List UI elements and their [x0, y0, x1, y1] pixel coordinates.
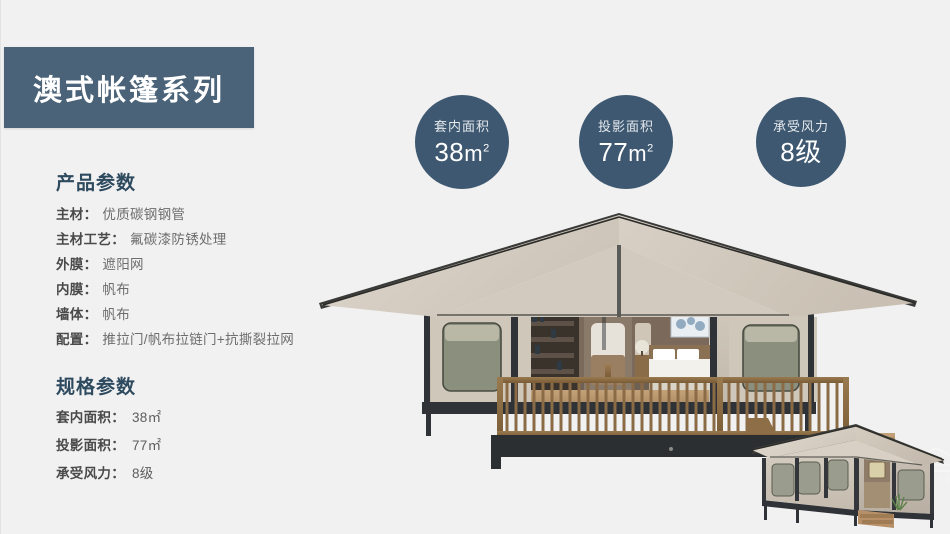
stat-label: 套内面积: [434, 120, 490, 133]
param-value: 8级: [132, 462, 154, 482]
spec-params-list: 套内面积： 38㎡ 投影面积： 77㎡ 承受风力： 8级: [56, 406, 161, 490]
param-row: 投影面积： 77㎡: [56, 434, 161, 462]
tent-small-svg: [746, 418, 950, 534]
param-label: 配置：: [56, 328, 97, 348]
param-row: 墙体： 帆布: [56, 303, 294, 328]
param-value: 遮阳网: [102, 253, 143, 273]
param-label: 墙体：: [56, 303, 97, 323]
stat-circle-wind-resistance: 承受风力 8级: [756, 97, 846, 187]
param-value: 氟碳漆防锈处理: [130, 228, 227, 248]
spec-params-heading: 规格参数: [56, 372, 136, 399]
param-label: 套内面积：: [56, 406, 125, 426]
param-label: 投影面积：: [56, 434, 125, 454]
stat-circle-projected-area: 投影面积 77m2: [579, 95, 673, 189]
stat-label: 承受风力: [773, 120, 829, 133]
param-row: 外膜： 遮阳网: [56, 253, 294, 278]
stat-value: 77m2: [598, 139, 653, 165]
param-value: 优质碳钢钢管: [102, 203, 185, 223]
product-params-heading: 产品参数: [56, 168, 136, 195]
product-params-list: 主材： 优质碳钢钢管 主材工艺： 氟碳漆防锈处理 外膜： 遮阳网 内膜： 帆布 …: [56, 203, 294, 353]
param-value: 推拉门/帆布拉链门+抗撕裂拉网: [102, 328, 294, 348]
param-label: 承受风力：: [56, 462, 125, 482]
stat-value: 38m2: [434, 139, 489, 165]
param-value: 帆布: [102, 303, 130, 323]
tent-small-illustration: [746, 418, 950, 534]
title-banner: 澳式帐篷系列: [4, 47, 254, 128]
param-value: 帆布: [102, 278, 130, 298]
page-title: 澳式帐篷系列: [33, 67, 225, 109]
param-label: 内膜：: [56, 278, 97, 298]
param-label: 外膜：: [56, 253, 97, 273]
param-row: 内膜： 帆布: [56, 278, 294, 303]
param-row: 承受风力： 8级: [56, 462, 161, 490]
slide-canvas: 澳式帐篷系列 产品参数 主材： 优质碳钢钢管 主材工艺： 氟碳漆防锈处理 外膜：…: [0, 0, 950, 534]
stat-label: 投影面积: [598, 120, 654, 133]
stat-circle-interior-area: 套内面积 38m2: [415, 95, 509, 189]
param-row: 主材工艺： 氟碳漆防锈处理: [56, 228, 294, 253]
stat-value: 8级: [780, 139, 821, 165]
param-label: 主材：: [56, 203, 97, 223]
param-value: 77㎡: [132, 434, 161, 454]
param-row: 配置： 推拉门/帆布拉链门+抗撕裂拉网: [56, 328, 294, 353]
param-value: 38㎡: [132, 406, 161, 426]
param-label: 主材工艺：: [56, 228, 125, 248]
param-row: 主材： 优质碳钢钢管: [56, 203, 294, 228]
param-row: 套内面积： 38㎡: [56, 406, 161, 434]
